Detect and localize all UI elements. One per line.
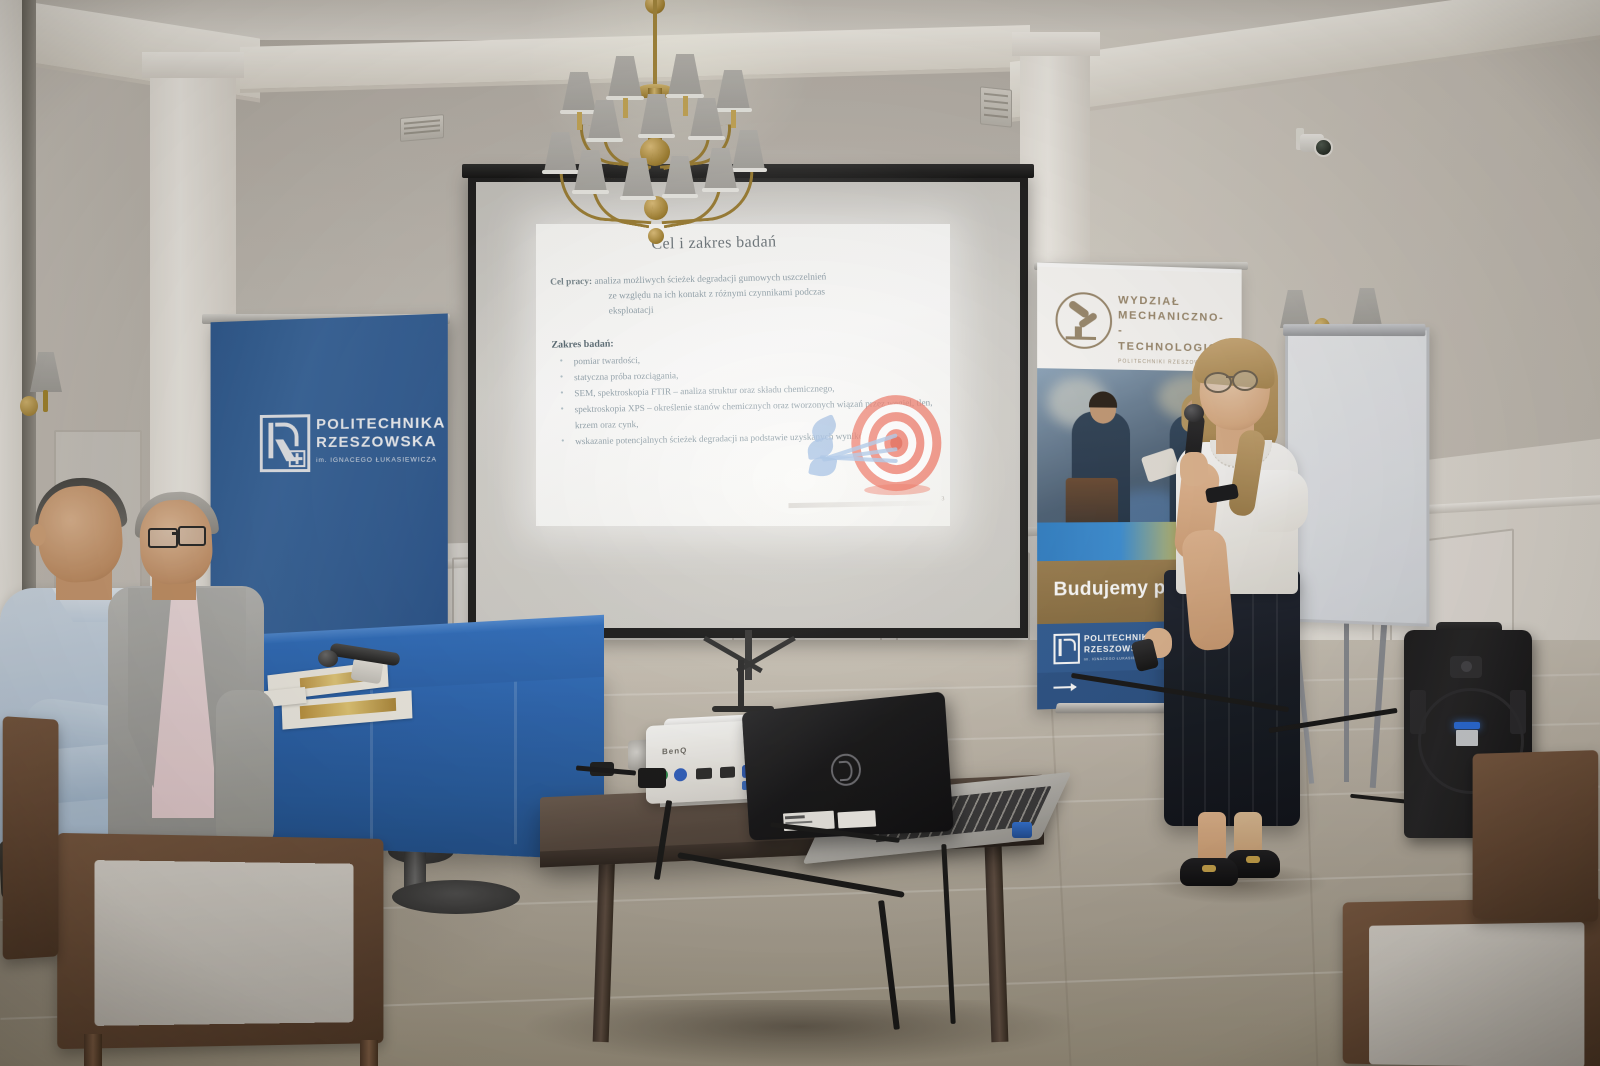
speaker-tweeter-icon bbox=[1450, 656, 1482, 678]
projector-brand-label: BenQ bbox=[662, 746, 687, 756]
chair-left-edge[interactable] bbox=[3, 716, 59, 960]
banner-photo-hair bbox=[1089, 391, 1117, 407]
cable-connector bbox=[638, 768, 666, 788]
wall-sconce-arm bbox=[43, 390, 48, 412]
chandelier-socket bbox=[683, 96, 688, 116]
projector-usb-port bbox=[720, 766, 735, 778]
chandelier-finial-bottom bbox=[648, 228, 664, 244]
slide-goal-paragraph: Cel pracy: analiza możliwych ścieżek deg… bbox=[550, 268, 941, 321]
pilaster-right-capital bbox=[1012, 32, 1100, 56]
chandelier-shade-rim bbox=[638, 134, 675, 138]
chandelier-chain bbox=[653, 0, 657, 92]
chandelier-shade bbox=[544, 132, 577, 172]
chair-leg bbox=[360, 1040, 378, 1066]
presenter-hand-holding-microphone bbox=[1180, 452, 1208, 486]
chandelier-shade bbox=[640, 94, 673, 136]
chandelier-shade-rim bbox=[542, 170, 579, 174]
prz-logo-icon bbox=[260, 414, 310, 472]
prz-logo-icon bbox=[1053, 633, 1079, 664]
microphone-head-icon bbox=[1184, 404, 1204, 422]
projector-port bbox=[674, 768, 687, 782]
speaker-label bbox=[1456, 730, 1478, 746]
chandelier-shade-rim bbox=[702, 188, 739, 192]
banner-left-line1: POLITECHNIKA bbox=[316, 414, 446, 434]
chandelier-socket bbox=[731, 110, 736, 128]
arrow-right-icon bbox=[1053, 686, 1075, 689]
chandelier-shade bbox=[608, 56, 642, 98]
flipchart-clamp bbox=[1283, 324, 1425, 336]
screen-tripod-pole bbox=[745, 630, 752, 680]
laptop-sticker bbox=[837, 810, 876, 828]
slide-goal-text: analiza możliwych ścieżek degradacji gum… bbox=[594, 272, 826, 286]
speaker-power-led bbox=[1454, 722, 1480, 729]
chandelier-shade bbox=[732, 130, 765, 170]
slide-footer-rule bbox=[788, 500, 938, 508]
slide-goal-label: Cel pracy: bbox=[550, 277, 592, 288]
presenter-glasses bbox=[1232, 370, 1258, 391]
chandelier-shade bbox=[562, 72, 596, 112]
chandelier bbox=[540, 0, 790, 250]
presenter-shoe bbox=[1180, 858, 1238, 886]
projector-hdmi-port bbox=[696, 768, 712, 780]
slide-scope-heading: Zakres badań: bbox=[551, 338, 614, 350]
laptop-lid bbox=[742, 691, 954, 840]
committee-member-2-arm bbox=[216, 690, 274, 850]
chandelier-shade-rim bbox=[586, 138, 623, 142]
chandelier-shade-rim bbox=[662, 194, 698, 198]
camera-lens-icon bbox=[1314, 138, 1333, 157]
ceiling-vent bbox=[400, 114, 444, 142]
robot-arm-icon bbox=[1056, 291, 1113, 349]
committee-member-2-glasses bbox=[148, 528, 178, 548]
banner-left-line2: RZESZOWSKA bbox=[316, 433, 446, 453]
banner-left-text: POLITECHNIKA RZESZOWSKA im. IGNACEGO ŁUK… bbox=[316, 414, 446, 463]
wall-vent bbox=[980, 86, 1012, 127]
chair-pad bbox=[95, 860, 354, 1026]
dell-logo-icon bbox=[830, 753, 862, 787]
flipchart-leg bbox=[1344, 612, 1349, 782]
chair-right-back[interactable] bbox=[1473, 750, 1599, 922]
banner-left-line3: im. IGNACEGO ŁUKASIEWICZA bbox=[316, 456, 446, 464]
chandelier-socket bbox=[623, 98, 628, 118]
usb-drive bbox=[1012, 822, 1032, 838]
dartboard-icon bbox=[808, 388, 942, 501]
banner-right-slogan: Budujemy pr bbox=[1053, 578, 1173, 602]
blue-table-base bbox=[392, 880, 520, 914]
committee-member-1-ear bbox=[30, 524, 46, 546]
banner-right-stand bbox=[1055, 703, 1178, 713]
chair-pad bbox=[1369, 922, 1584, 1066]
chandelier-shade-rim bbox=[620, 196, 656, 200]
flipchart-board bbox=[1285, 327, 1429, 627]
committee-member-2-glasses bbox=[178, 526, 206, 546]
presenter-glasses-bridge bbox=[1226, 376, 1234, 378]
pilaster-left-capital bbox=[142, 52, 244, 78]
chair-leg bbox=[84, 1034, 102, 1066]
chandelier-shade-rim bbox=[730, 168, 767, 172]
chandelier-shade-rim bbox=[572, 190, 609, 194]
committee-member-2-glasses-bridge bbox=[172, 532, 180, 535]
screen-tripod-leg bbox=[738, 660, 744, 712]
chandelier-shade bbox=[668, 54, 702, 96]
slide-page-number: 3 bbox=[941, 496, 944, 502]
presenter-sleeve bbox=[1258, 470, 1308, 532]
presentation-slide: Cel i zakres badań Cel pracy: analiza mo… bbox=[536, 224, 950, 526]
chandelier-shade bbox=[716, 70, 750, 110]
chandelier-shade-rim bbox=[688, 136, 725, 140]
conference-photo-scene: Cel i zakres badań Cel pracy: analiza mo… bbox=[0, 0, 1600, 1066]
wall-sconce-backplate bbox=[20, 396, 38, 416]
chandelier-socket bbox=[577, 112, 582, 130]
